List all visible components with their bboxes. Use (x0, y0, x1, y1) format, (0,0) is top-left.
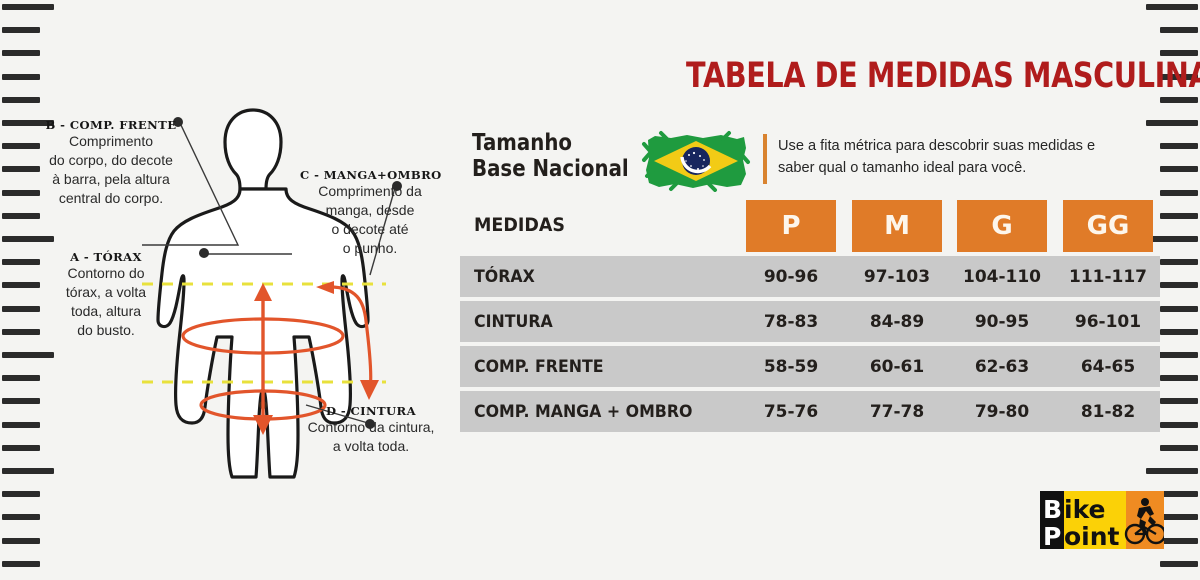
ruler-tick (2, 491, 40, 497)
table-header-row: MEDIDAS PMGGG (460, 200, 1160, 252)
ruler-tick (1160, 491, 1198, 497)
row-value: 75-76 (746, 402, 836, 422)
row-value: 79-80 (957, 402, 1047, 422)
annotation-c-title: C - MANGA+OMBRO (300, 168, 440, 182)
ruler-tick (2, 306, 40, 312)
ruler-tick (2, 282, 40, 288)
ruler-tick (2, 561, 40, 567)
ruler-tick (1160, 375, 1198, 381)
annotation-d: D - CINTURA Contorno da cintura, a volta… (291, 404, 451, 456)
table-row: COMP. FRENTE58-5960-6162-6364-65 (460, 346, 1160, 387)
ruler-tick (2, 190, 40, 196)
ruler-tick (2, 27, 40, 33)
row-value: 90-96 (746, 267, 836, 287)
ruler-tick (2, 352, 54, 358)
size-header-gg[interactable]: GG (1063, 200, 1153, 252)
row-value: 60-61 (852, 357, 942, 377)
ruler-tick (2, 398, 40, 404)
annotation-c: C - MANGA+OMBRO Comprimento da manga, de… (300, 168, 440, 258)
bike-point-logo: B P ike oint (1040, 489, 1164, 551)
row-label: CINTURA (474, 312, 553, 332)
ruler-tick (1160, 422, 1198, 428)
ruler-tick (1160, 398, 1198, 404)
row-value: 78-83 (746, 312, 836, 332)
ruler-tick (2, 538, 40, 544)
ruler-tick (2, 50, 40, 56)
ruler-tick (1146, 4, 1198, 10)
instruction-divider (763, 134, 767, 184)
ruler-tick (2, 236, 54, 242)
row-value: 84-89 (852, 312, 942, 332)
annotation-c-body: Comprimento da manga, desde o decote até… (300, 182, 440, 258)
ruler-tick (1160, 259, 1198, 265)
ruler-tick (1160, 27, 1198, 33)
annotation-b: B - COMP. FRENTE Comprimento do corpo, d… (36, 118, 186, 208)
svg-text:B: B (1043, 495, 1062, 524)
row-value: 111-117 (1063, 267, 1153, 287)
annotation-a-body: Contorno do tórax, a volta toda, altura … (42, 264, 170, 340)
ruler-tick (2, 259, 40, 265)
ruler-tick (2, 375, 40, 381)
annotation-a: A - TÓRAX Contorno do tórax, a volta tod… (42, 250, 170, 340)
ruler-tick (1160, 97, 1198, 103)
annotation-d-title: D - CINTURA (291, 404, 451, 418)
row-value: 62-63 (957, 357, 1047, 377)
table-row: TÓRAX90-9697-103104-110111-117 (460, 256, 1160, 297)
size-header-p[interactable]: P (746, 200, 836, 252)
annotation-d-body: Contorno da cintura, a volta toda. (291, 418, 451, 456)
row-label: COMP. MANGA + OMBRO (474, 402, 692, 422)
ruler-tick (1160, 190, 1198, 196)
ruler-tick (1146, 468, 1198, 474)
ruler-tick (1160, 538, 1198, 544)
size-chart-page: TABELA DE MEDIDAS MASCULINA Tamanho Base… (0, 0, 1200, 580)
row-value: 81-82 (1063, 402, 1153, 422)
annotation-a-title: A - TÓRAX (42, 250, 170, 264)
ruler-tick (2, 97, 40, 103)
ruler-tick (2, 166, 40, 172)
ruler-left (0, 0, 46, 580)
instruction-line2: saber qual o tamanho ideal para você. (778, 157, 1178, 179)
size-header-g[interactable]: G (957, 200, 1047, 252)
ruler-tick (1146, 120, 1198, 126)
ruler-tick (2, 213, 40, 219)
table-row: CINTURA78-8384-8990-9596-101 (460, 301, 1160, 342)
row-value: 64-65 (1063, 357, 1153, 377)
size-header-m[interactable]: M (852, 200, 942, 252)
row-value: 58-59 (746, 357, 836, 377)
ruler-tick (1160, 561, 1198, 567)
row-label: COMP. FRENTE (474, 357, 604, 377)
row-value: 104-110 (957, 267, 1047, 287)
row-value: 77-78 (852, 402, 942, 422)
row-value: 90-95 (957, 312, 1047, 332)
ruler-tick (2, 143, 40, 149)
ruler-tick (1160, 445, 1198, 451)
size-standard-line1: Tamanho (472, 130, 629, 156)
ruler-tick (2, 4, 54, 10)
row-value: 97-103 (852, 267, 942, 287)
instruction-line1: Use a fita métrica para descobrir suas m… (778, 135, 1178, 157)
row-label: TÓRAX (474, 267, 535, 287)
page-title: TABELA DE MEDIDAS MASCULINA (686, 56, 1071, 96)
svg-text:P: P (1043, 522, 1061, 551)
ruler-tick (2, 422, 40, 428)
ruler-tick (1160, 306, 1198, 312)
ruler-tick (2, 468, 54, 474)
size-standard-label: Tamanho Base Nacional (472, 130, 629, 182)
table-row: COMP. MANGA + OMBRO75-7677-7879-8081-82 (460, 391, 1160, 432)
brazil-flag-icon (641, 130, 751, 192)
ruler-tick (2, 445, 40, 451)
ruler-tick (1160, 213, 1198, 219)
ruler-tick (1160, 329, 1198, 335)
size-standard-line2: Base Nacional (472, 156, 629, 182)
ruler-tick (1160, 282, 1198, 288)
ruler-tick (2, 74, 40, 80)
row-value: 96-101 (1063, 312, 1153, 332)
ruler-tick (2, 514, 40, 520)
annotation-b-title: B - COMP. FRENTE (36, 118, 186, 132)
svg-text:ike: ike (1064, 495, 1105, 524)
measurements-table: MEDIDAS PMGGG TÓRAX90-9697-103104-110111… (460, 200, 1160, 432)
annotation-b-body: Comprimento do corpo, do decote à barra,… (36, 132, 186, 208)
svg-text:oint: oint (1064, 522, 1120, 551)
table-corner-label: MEDIDAS (474, 214, 565, 236)
ruler-tick (2, 329, 40, 335)
ruler-tick (1160, 514, 1198, 520)
instruction-text: Use a fita métrica para descobrir suas m… (778, 135, 1178, 179)
